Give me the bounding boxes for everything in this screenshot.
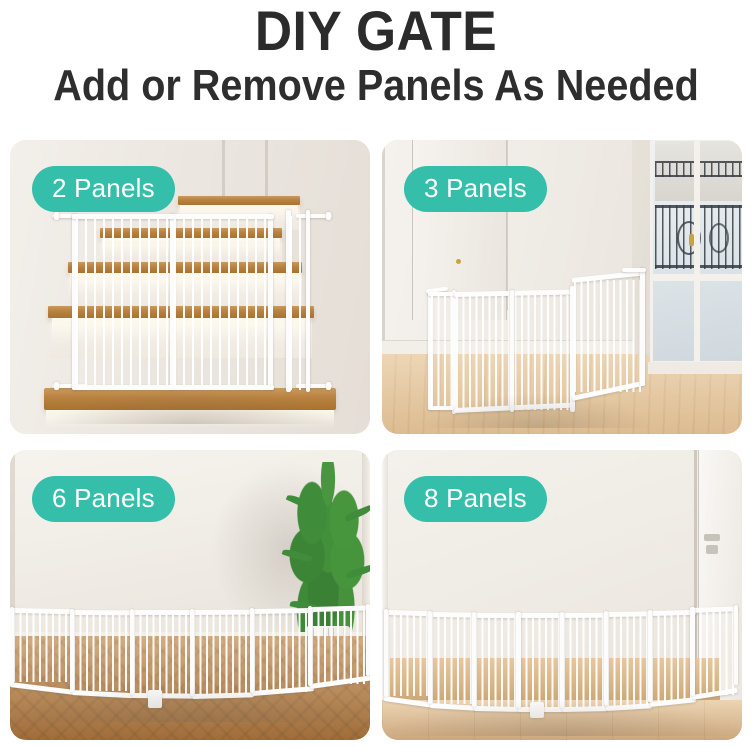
gate-bars-panel-2 — [73, 613, 131, 691]
gate-bars-panel-7 — [651, 614, 694, 702]
gate-bars-panel-1 — [387, 614, 430, 696]
gate-floor-shadow — [50, 390, 330, 424]
gate-bars-panel-8 — [693, 611, 738, 695]
gate-post — [734, 605, 738, 685]
gate-post-right-end — [640, 268, 645, 386]
gate-post — [690, 607, 695, 696]
badge-2-panels: 2 Panels — [32, 166, 175, 212]
gate-floor-shadow — [10, 686, 370, 722]
panel-card-6-panels[interactable]: 6 Panels — [10, 450, 370, 740]
gate-post — [604, 611, 608, 706]
door-handle-icon[interactable] — [704, 534, 720, 541]
gate-floor-shadow — [422, 394, 652, 428]
gate-bars-panel-1 — [13, 612, 71, 682]
gate-post-right — [268, 214, 273, 390]
gate-post — [10, 607, 14, 685]
door-lock-icon — [706, 545, 718, 554]
gate-mount-cup — [54, 382, 59, 390]
panel-card-8-panels[interactable]: 8 Panels — [382, 450, 742, 740]
gate-post — [366, 604, 370, 676]
gate-bars-panel-2 — [431, 616, 474, 704]
badge-8-panels: 8 Panels — [404, 476, 547, 522]
badge-6-panels: 6 Panels — [32, 476, 175, 522]
panel-photo-grid: 2 Panels — [10, 140, 742, 740]
gate-post — [70, 609, 74, 692]
panel-card-2-panels[interactable]: 2 Panels — [10, 140, 370, 434]
iron-scroll-motif — [709, 223, 729, 253]
window-sill — [648, 362, 742, 374]
gate-bars-panel-6 — [311, 610, 369, 684]
wall-corner-seam — [10, 450, 15, 632]
gate-post — [308, 606, 312, 686]
gate-post — [472, 612, 476, 707]
badge-3-panels: 3 Panels — [404, 166, 547, 212]
stair-tread — [178, 196, 300, 205]
gate-extension-post — [306, 210, 310, 392]
gate-bars-extension — [290, 216, 306, 390]
page-title: DIY GATE — [30, 2, 722, 60]
gate-post — [250, 608, 254, 693]
gate-bars-panel-3 — [475, 616, 518, 707]
gate-bars-panel-4 — [193, 613, 251, 695]
gate-bars-panel-1 — [76, 218, 169, 386]
gate-bars-panel-5 — [563, 616, 606, 708]
gate-post — [190, 609, 194, 696]
page-subtitle: Add or Remove Panels As Needed — [38, 61, 715, 111]
gate-bars-panel-3 — [133, 613, 191, 694]
gate-floor-shadow — [382, 700, 742, 736]
gate-post — [130, 609, 134, 695]
gate-mount-cup — [54, 212, 59, 220]
header: DIY GATE Add or Remove Panels As Needed — [0, 0, 752, 111]
gate-bars-panel-6 — [607, 615, 650, 706]
gate-bars-panel-2 — [456, 295, 572, 410]
door-knob-icon — [456, 259, 461, 264]
wall-seam — [382, 140, 385, 370]
gate-bars-panel-3 — [574, 280, 644, 392]
gate-bars-panel-5 — [253, 612, 311, 692]
window-latch-icon — [689, 234, 694, 246]
window-transom — [650, 274, 742, 281]
gate-bars-panel-4 — [519, 616, 562, 708]
gate-post — [428, 611, 432, 704]
gate-bars-panel-2 — [174, 218, 267, 386]
gate-post — [560, 612, 564, 708]
gate-mount-cup — [326, 212, 331, 220]
gate-bars-panel-1 — [431, 295, 452, 407]
window-mullion — [694, 140, 700, 364]
panel-card-3-panels[interactable]: 3 Panels — [382, 140, 742, 434]
gate-post — [384, 609, 388, 697]
gate-mount-arm — [622, 268, 646, 272]
gate-post-middle — [516, 612, 521, 708]
gate-mount-cup — [326, 382, 331, 390]
gate-post — [648, 610, 652, 702]
infographic-page: DIY GATE Add or Remove Panels As Needed — [0, 0, 752, 747]
